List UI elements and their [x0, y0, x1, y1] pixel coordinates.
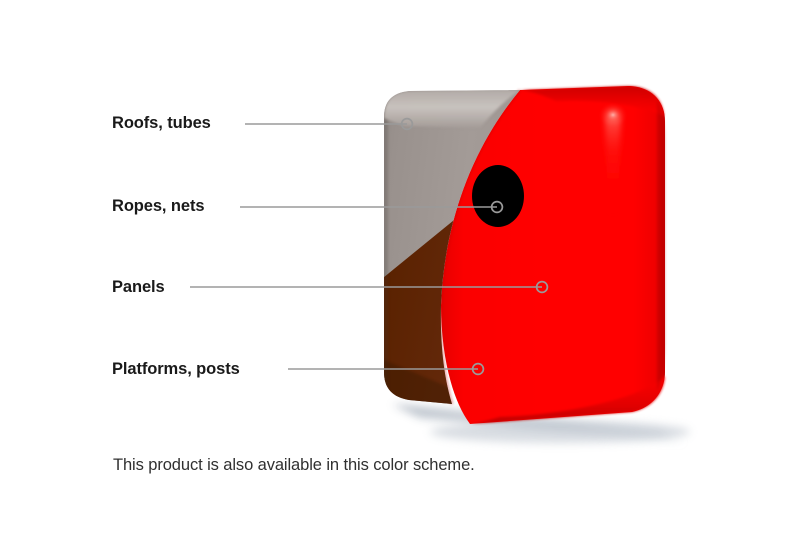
- illustration-canvas: Roofs, tubes Ropes, nets Panels Platform…: [0, 0, 800, 533]
- callout-label-roofs-tubes: Roofs, tubes: [112, 115, 211, 132]
- product-illustration: [0, 0, 800, 533]
- callout-label-panels: Panels: [112, 279, 165, 296]
- callout-label-ropes-nets: Ropes, nets: [112, 198, 204, 215]
- black-dot: [472, 165, 524, 227]
- caption-text: This product is also available in this c…: [113, 456, 475, 475]
- callout-label-platforms-posts: Platforms, posts: [112, 361, 240, 378]
